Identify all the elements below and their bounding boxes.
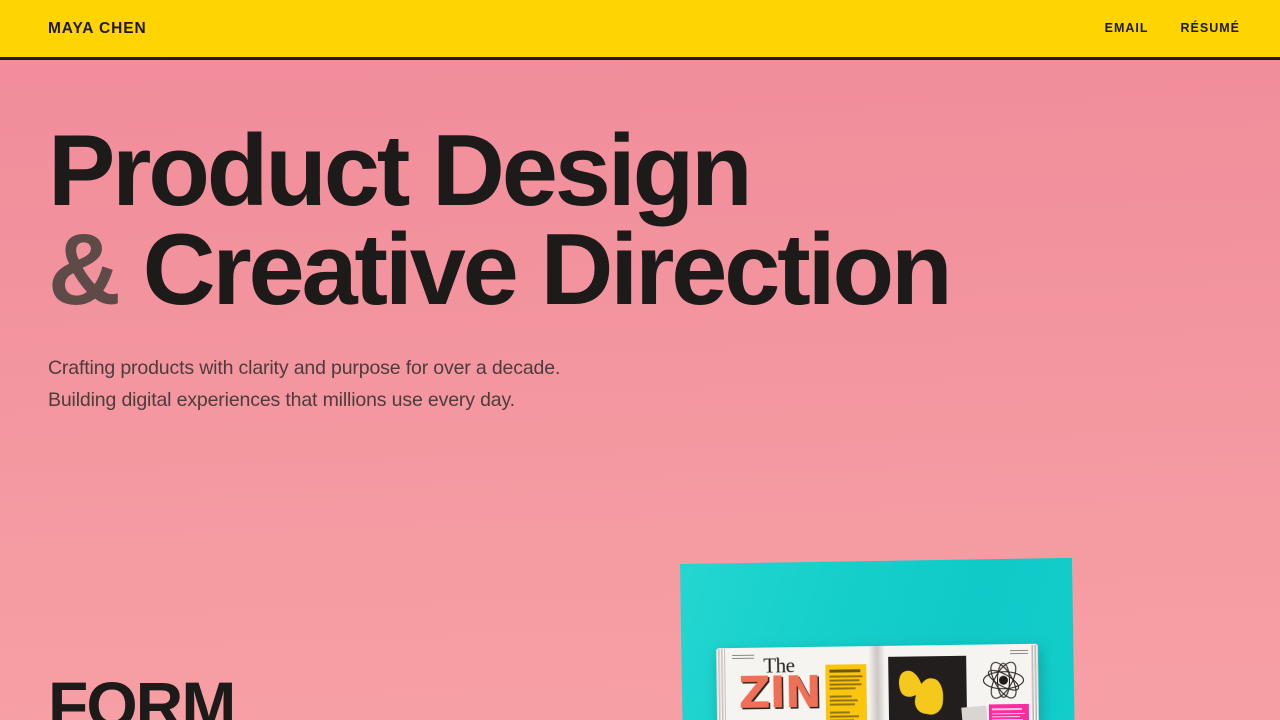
hero-subtitle-line-1: Crafting products with clarity and purpo… xyxy=(48,353,1280,385)
nav-link-email[interactable]: EMAIL xyxy=(1105,22,1149,35)
magazine-folio-lines xyxy=(1010,650,1028,655)
magazine-kicker-lines xyxy=(732,655,754,661)
page-title: Product Design & Creative Direction xyxy=(48,122,1280,320)
page-root: MAYA CHEN EMAIL RÉSUMÉ Product Design & … xyxy=(0,0,1280,720)
magazine-right-page xyxy=(876,644,1039,720)
open-magazine: The ZIN xyxy=(716,644,1039,720)
hero-ampersand: & xyxy=(48,214,118,326)
magazine-pink-note xyxy=(989,704,1029,720)
section-heading-form: FORM xyxy=(48,672,234,720)
nav-link-resume[interactable]: RÉSUMÉ xyxy=(1181,22,1240,35)
hero-photo-magazine: The ZIN xyxy=(672,562,1080,720)
hero-title-line-2-text: Creative Direction xyxy=(143,214,950,326)
magazine-gutter-shadow xyxy=(868,646,886,720)
main-nav: EMAIL RÉSUMÉ xyxy=(1105,22,1240,35)
hero-section: Product Design & Creative Direction Craf… xyxy=(0,60,1280,417)
site-header: MAYA CHEN EMAIL RÉSUMÉ xyxy=(0,0,1280,60)
magazine-gray-note xyxy=(961,706,987,720)
hero-subtitle: Crafting products with clarity and purpo… xyxy=(48,353,1280,417)
hero-title-line-1: Product Design xyxy=(48,122,1280,221)
brand-name[interactable]: MAYA CHEN xyxy=(48,21,147,37)
magazine-black-illustration-panel xyxy=(888,656,967,720)
magazine-left-page: The ZIN xyxy=(716,646,877,720)
hero-subtitle-line-2: Building digital experiences that millio… xyxy=(48,385,1280,417)
atom-diagram-icon xyxy=(981,658,1026,703)
hero-title-line-2: & Creative Direction xyxy=(48,221,1280,320)
magazine-yellow-sidebar xyxy=(825,664,867,720)
magazine-title-word: ZIN xyxy=(738,671,821,716)
